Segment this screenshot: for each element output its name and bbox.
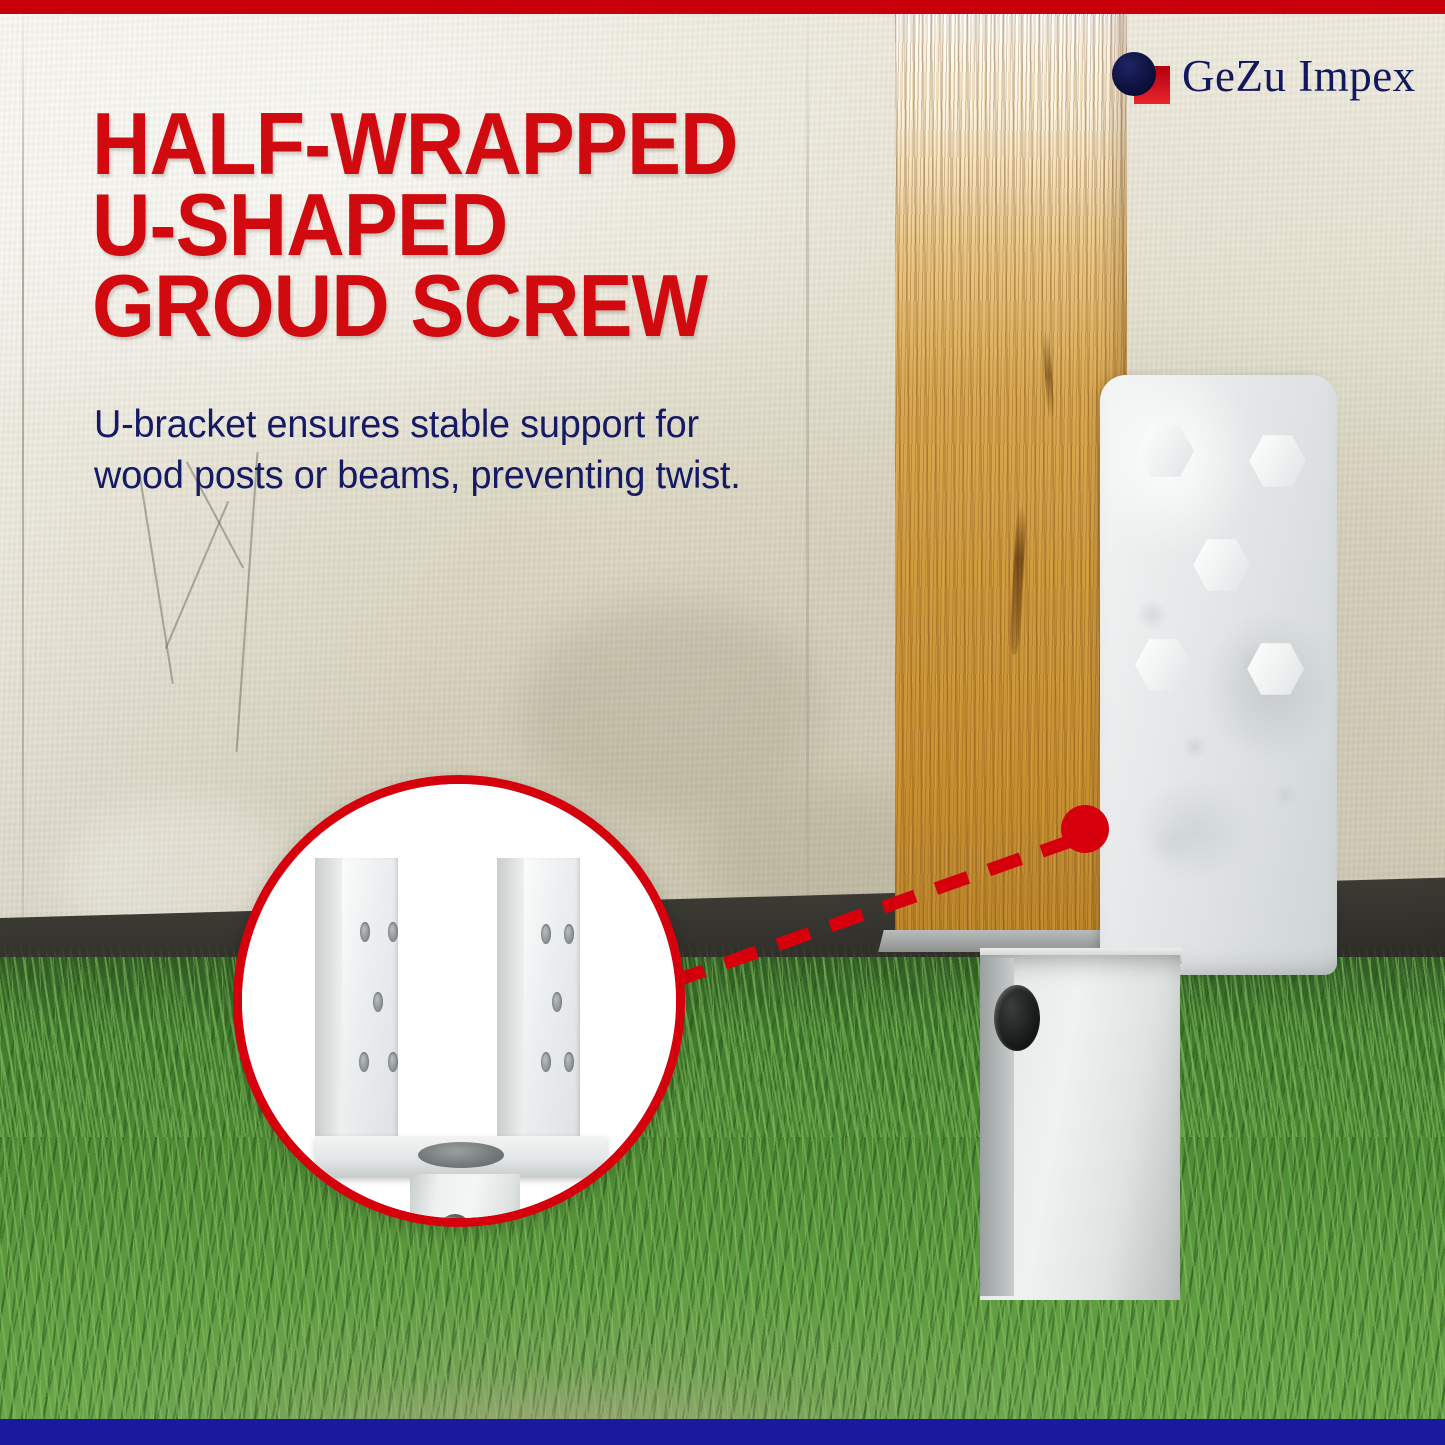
wall-seam (22, 0, 24, 961)
bolt-hole-icon (359, 1052, 369, 1072)
brand-name: GeZu Impex (1182, 50, 1416, 102)
bolt-hole-icon (564, 1052, 574, 1072)
u-bracket-right-edge (497, 858, 525, 1158)
bolt-hole-icon (388, 922, 398, 942)
wood-grain-knot (1042, 330, 1055, 420)
galvanized-u-bracket-plate (1100, 375, 1337, 975)
subtitle-line-1: U-bracket ensures stable support for (94, 400, 812, 451)
product-poster: HALF-WRAPPED U-SHAPED GROUD SCREW U-brac… (0, 0, 1445, 1445)
bolt-hole-icon (360, 922, 370, 942)
bolt-hole-icon (552, 992, 562, 1012)
bolt-hole-icon (541, 924, 551, 944)
u-bracket-base-bore (418, 1142, 504, 1168)
u-bracket-detail-inset (233, 775, 685, 1227)
bottom-accent-bar (0, 1419, 1445, 1445)
inset-white-backdrop (242, 784, 676, 1218)
bolt-hole-icon (388, 1052, 398, 1072)
inset-ground-tube (410, 1174, 520, 1227)
product-assembly (895, 0, 1355, 1300)
headline-line-2: U-SHAPED (92, 185, 856, 266)
subtitle-line-2: wood posts or beams, preventing twist. (94, 451, 812, 502)
headline-line-1: HALF-WRAPPED (92, 104, 856, 185)
ground-tube-hole (994, 985, 1040, 1051)
logo-navy-circle (1112, 52, 1156, 96)
wood-post (895, 0, 1127, 945)
bolt-hole-icon (541, 1052, 551, 1072)
wood-grain-knot (1009, 505, 1027, 655)
u-bracket-left-wing (342, 858, 398, 1148)
page-title: HALF-WRAPPED U-SHAPED GROUD SCREW (92, 104, 856, 347)
headline-line-3: GROUD SCREW (92, 266, 856, 347)
bolt-hole-icon (373, 992, 383, 1012)
brand-logo[interactable]: GeZu Impex (1112, 48, 1402, 110)
u-bracket-left-edge (315, 858, 343, 1158)
subtitle: U-bracket ensures stable support for woo… (94, 400, 812, 501)
bolt-hole-icon (564, 924, 574, 944)
circle-square-logo-icon (1112, 52, 1170, 106)
top-accent-bar (0, 0, 1445, 14)
